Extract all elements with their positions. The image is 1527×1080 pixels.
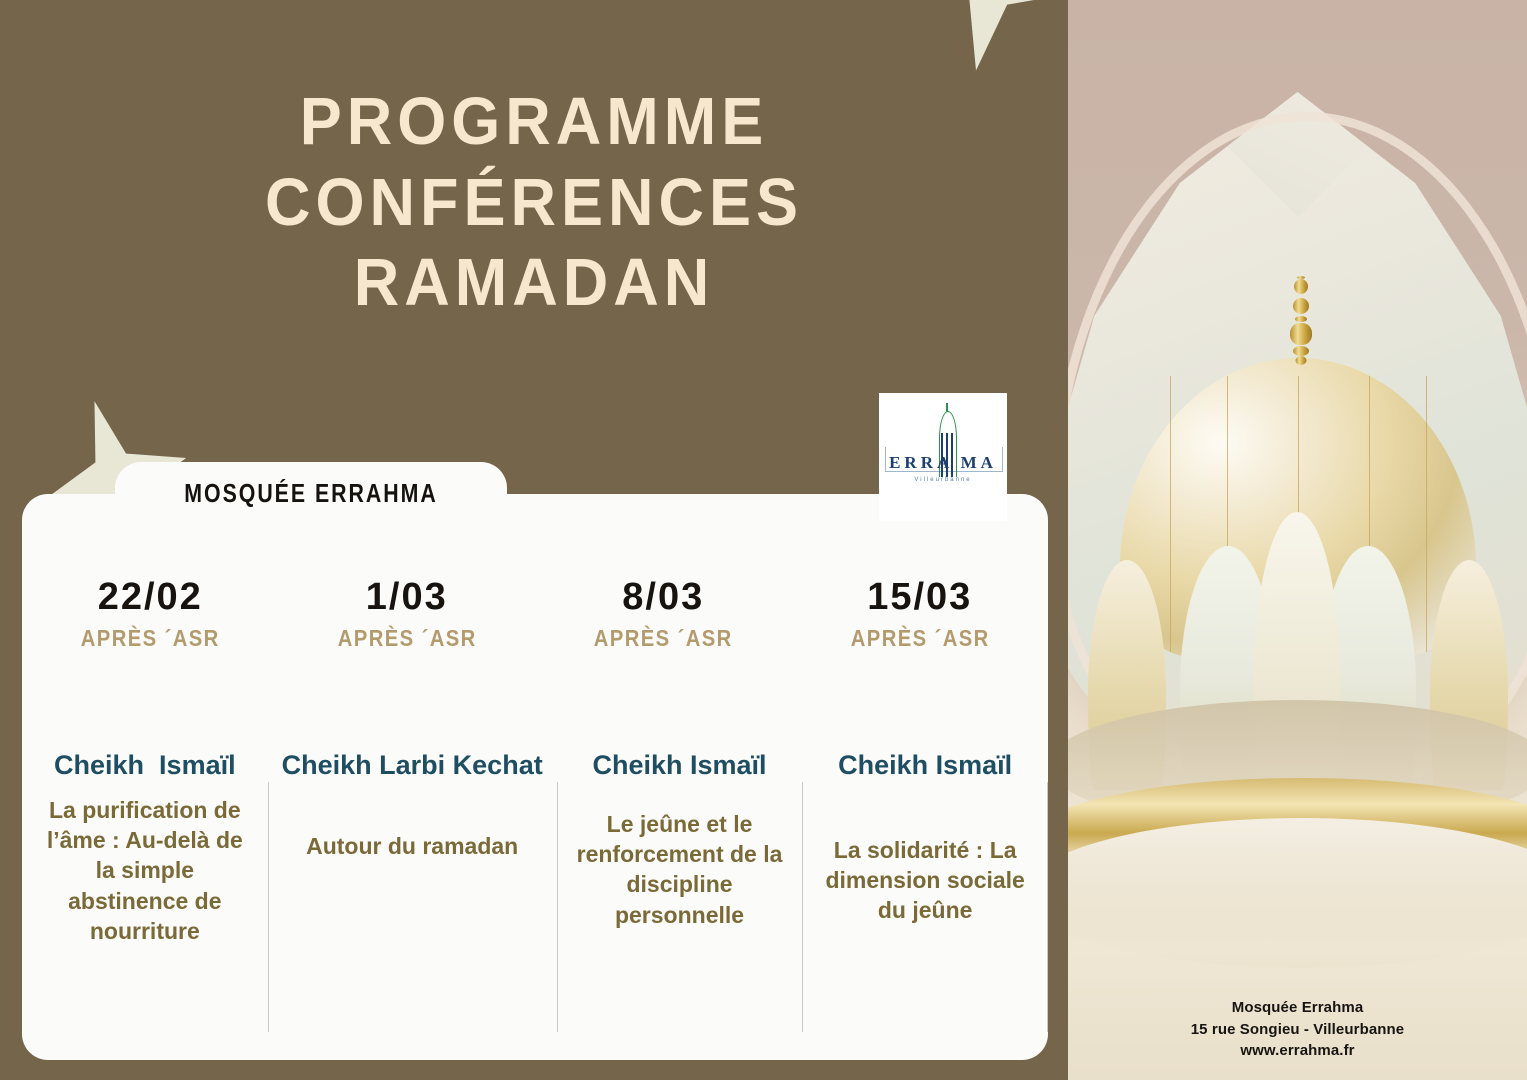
speaker-name: Cheikh Ismaïl <box>816 748 1034 783</box>
conference-column: Cheikh Larbi Kechat Autour du ramadan <box>268 748 557 1048</box>
golden-finial-icon <box>1290 276 1312 368</box>
date-cell: 1/03 APRÈS ´ASR <box>279 576 536 652</box>
footer-mosque-name: Mosquée Errahma <box>1068 997 1527 1019</box>
speaker-name: Cheikh Ismaïl <box>36 748 254 783</box>
date-value: 1/03 <box>279 576 536 619</box>
page-title-line-2: CONFÉRENCES <box>0 160 1068 245</box>
logo-text: ERRA MA <box>883 453 1003 473</box>
card-title: MOSQUÉE ERRAHMA <box>150 470 471 516</box>
conference-topic: Le jeûne et le renforcement de la discip… <box>571 809 789 930</box>
date-time: APRÈS ´ASR <box>807 625 1033 652</box>
footer-contact: Mosquée Errahma 15 rue Songieu - Villeur… <box>1068 997 1527 1062</box>
date-row: 22/02 APRÈS ´ASR 1/03 APRÈS ´ASR 8/03 AP… <box>22 576 1048 652</box>
date-value: 15/03 <box>792 576 1049 619</box>
date-value: 8/03 <box>535 576 792 619</box>
date-cell: 15/03 APRÈS ´ASR <box>792 576 1049 652</box>
date-time: APRÈS ´ASR <box>294 625 520 652</box>
page-title: PROGRAMME CONFÉRENCES RAMADAN <box>0 82 1068 324</box>
date-value: 22/02 <box>22 576 279 619</box>
conference-topic: La purification de l’âme : Au-delà de la… <box>36 795 254 947</box>
poster: PROGRAMME CONFÉRENCES RAMADAN <box>0 0 1527 1080</box>
page-title-line-3: RAMADAN <box>0 241 1068 326</box>
date-time: APRÈS ´ASR <box>37 625 263 652</box>
speaker-name: Cheikh Ismaïl <box>571 748 789 783</box>
footer-website[interactable]: www.errahma.fr <box>1068 1040 1527 1062</box>
date-cell: 22/02 APRÈS ´ASR <box>22 576 279 652</box>
date-time: APRÈS ´ASR <box>550 625 776 652</box>
speaker-name: Cheikh Larbi Kechat <box>282 748 543 783</box>
logo-subtitle: Villeurbanne <box>883 477 1003 483</box>
conference-topic: La solidarité : La dimension sociale du … <box>816 835 1034 926</box>
date-cell: 8/03 APRÈS ´ASR <box>535 576 792 652</box>
mosque-dome-image: Mosquée Errahma 15 rue Songieu - Villeur… <box>1068 0 1527 1080</box>
conference-column: Cheikh Ismaïl La solidarité : La dimensi… <box>802 748 1048 1048</box>
footer-address: 15 rue Songieu - Villeurbanne <box>1068 1019 1527 1041</box>
mosque-logo: ERRA MA Villeurbanne <box>879 393 1007 521</box>
page-title-line-1: PROGRAMME <box>0 80 1068 165</box>
conference-column: Cheikh Ismaïl Le jeûne et le renforcemen… <box>557 748 803 1048</box>
conference-columns: Cheikh Ismaïl La purification de l’âme :… <box>22 748 1048 1048</box>
conference-topic: Autour du ramadan <box>282 831 543 861</box>
conference-column: Cheikh Ismaïl La purification de l’âme :… <box>22 748 268 1048</box>
